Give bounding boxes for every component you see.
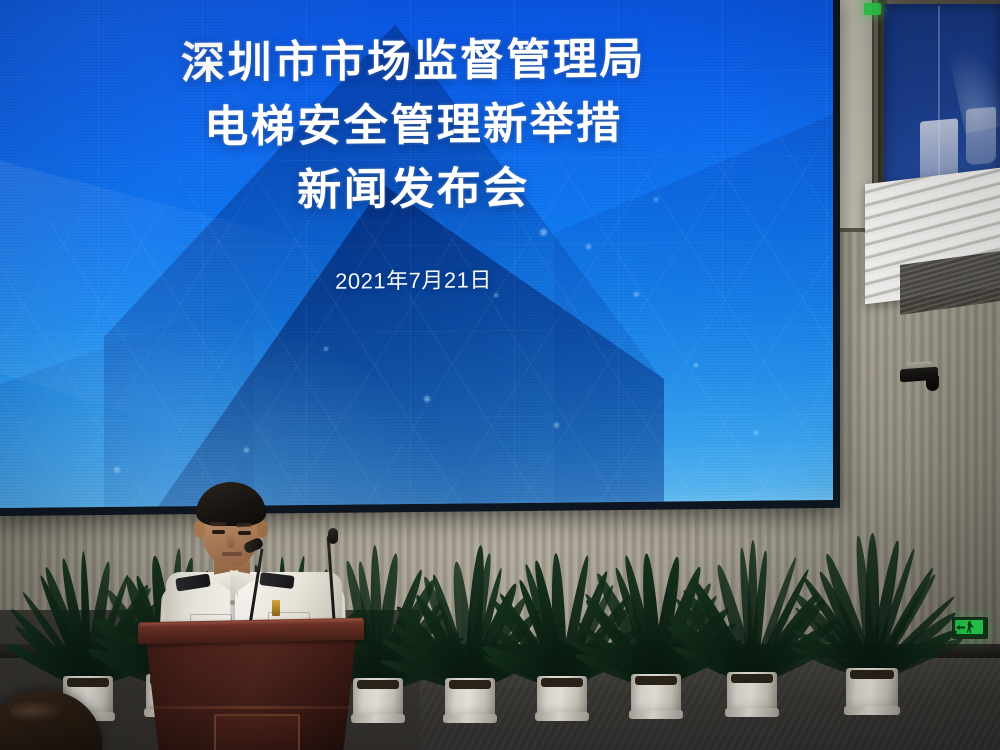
speaker-eye-right [238,531,251,535]
plant-pot-rim [629,710,683,719]
plant-soil [449,680,491,689]
press-conference-photo: 深圳市市场监督管理局 电梯安全管理新举措 新闻发布会 2021年7月21日 [0,0,1000,750]
slide-title-line-2: 电梯安全管理新举措 [204,92,623,160]
plant-pot-rim [535,712,589,721]
wall-seam [872,0,874,200]
potted-plant [808,534,936,712]
podium-front-panel [214,714,300,750]
emergency-exit-light-icon [864,3,881,15]
speaker-nose [227,534,235,548]
speaker-shirt-button [230,600,235,605]
speaker-eye-left [212,530,225,534]
plant-pot [727,672,777,714]
plant-pot [537,676,587,718]
podium [138,620,364,750]
plant-soil [635,676,677,685]
speaker-name-badge [272,600,280,616]
plant-pot [631,674,681,716]
plant-pot [846,668,898,712]
speaker-mouth [222,552,242,556]
audience-head-highlight [10,700,64,722]
plant-soil [541,678,583,687]
glass-reflection-pot-secondary [966,107,996,166]
plant-pot-rim [725,708,779,717]
plant-soil [850,670,894,679]
plant-foliage [690,552,814,682]
plant-pot [445,678,495,720]
speaker-eyebrow-right [236,523,252,528]
podium-ridge [150,706,352,709]
emergency-exit-sign-icon [952,617,988,639]
plant-soil [731,674,773,683]
slide-text-block: 深圳市市场监督管理局 电梯安全管理新举措 新闻发布会 2021年7月21日 [0,0,833,508]
speaker-eyebrow-left [210,522,226,527]
speaker-hair [196,482,266,526]
glass-mullion [938,6,940,196]
plant-pot-rim [844,706,900,715]
slide-title-line-3: 新闻发布会 [297,157,530,223]
plant-pot-rim [443,714,497,723]
potted-plant [690,542,814,714]
plant-soil [67,678,109,687]
led-screen: 深圳市市场监督管理局 电梯安全管理新举措 新闻发布会 2021年7月21日 [0,0,833,508]
slide-title-line-1: 深圳市市场监督管理局 [181,28,646,97]
security-camera-icon [900,362,944,392]
plant-foliage [808,544,936,678]
slide-date: 2021年7月21日 [335,262,492,296]
camera-lens [926,376,939,391]
microphone-head-secondary [328,528,338,544]
